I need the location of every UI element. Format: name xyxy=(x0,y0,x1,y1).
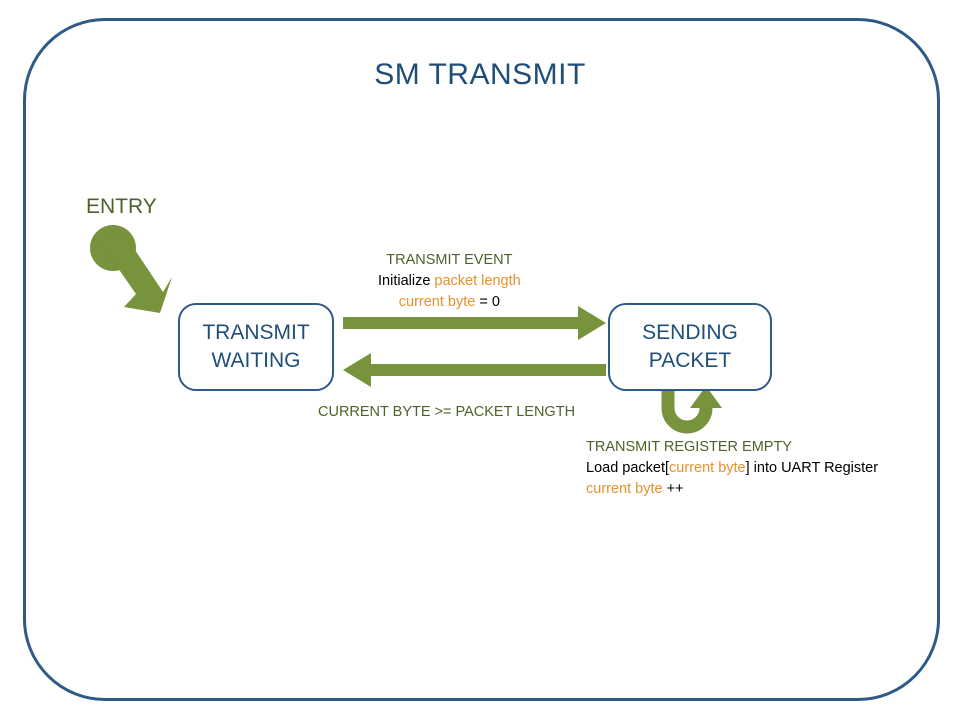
transition-label-current-byte-complete: CURRENT BYTE >= PACKET LENGTH xyxy=(318,402,575,423)
action-suffix-equals-zero: = 0 xyxy=(475,294,500,310)
diagram-canvas: SM TRANSMIT ENTRY TRANSMIT WAITING SENDI… xyxy=(0,0,960,720)
variable-packet-length: packet length xyxy=(434,273,520,289)
transition-label-transmit-register-empty: TRANSMIT REGISTER EMPTY Load packet[curr… xyxy=(586,437,878,500)
action-prefix-initialize: Initialize xyxy=(378,273,434,289)
transition-event-transmit-event: TRANSMIT EVENT xyxy=(378,250,521,271)
transition-action-initialize: Initialize packet length xyxy=(378,271,521,292)
arrow-sending-packet-self-loop xyxy=(668,386,722,427)
variable-current-byte-index: current byte xyxy=(669,460,746,476)
transition-event-current-byte-complete: CURRENT BYTE >= PACKET LENGTH xyxy=(318,402,575,423)
transition-action-current-byte-increment: current byte ++ xyxy=(586,479,878,500)
transition-action-current-byte-zero: current byte = 0 xyxy=(378,292,521,313)
state-sending-packet-line1: SENDING xyxy=(642,319,738,347)
action-suffix-increment: ++ xyxy=(663,481,684,497)
arrow-sending-packet-to-transmit-waiting xyxy=(343,353,606,387)
state-sending-packet-line2: PACKET xyxy=(649,347,731,375)
entry-label: ENTRY xyxy=(86,195,157,219)
state-transmit-waiting-line2: WAITING xyxy=(211,347,300,375)
state-sending-packet[interactable]: SENDING PACKET xyxy=(608,303,772,391)
action-prefix-load-packet: Load packet[ xyxy=(586,460,669,476)
state-transmit-waiting-line1: TRANSMIT xyxy=(202,319,309,347)
state-transmit-waiting[interactable]: TRANSMIT WAITING xyxy=(178,303,334,391)
transition-action-load-packet: Load packet[current byte] into UART Regi… xyxy=(586,458,878,479)
action-suffix-into-uart-register: ] into UART Register xyxy=(746,460,878,476)
transition-label-transmit-event: TRANSMIT EVENT Initialize packet length … xyxy=(378,250,521,313)
entry-marker-icon xyxy=(90,225,172,313)
variable-current-byte: current byte xyxy=(399,294,476,310)
transition-arrows-layer xyxy=(0,0,960,720)
transition-event-transmit-register-empty: TRANSMIT REGISTER EMPTY xyxy=(586,437,878,458)
variable-current-byte-incr: current byte xyxy=(586,481,663,497)
